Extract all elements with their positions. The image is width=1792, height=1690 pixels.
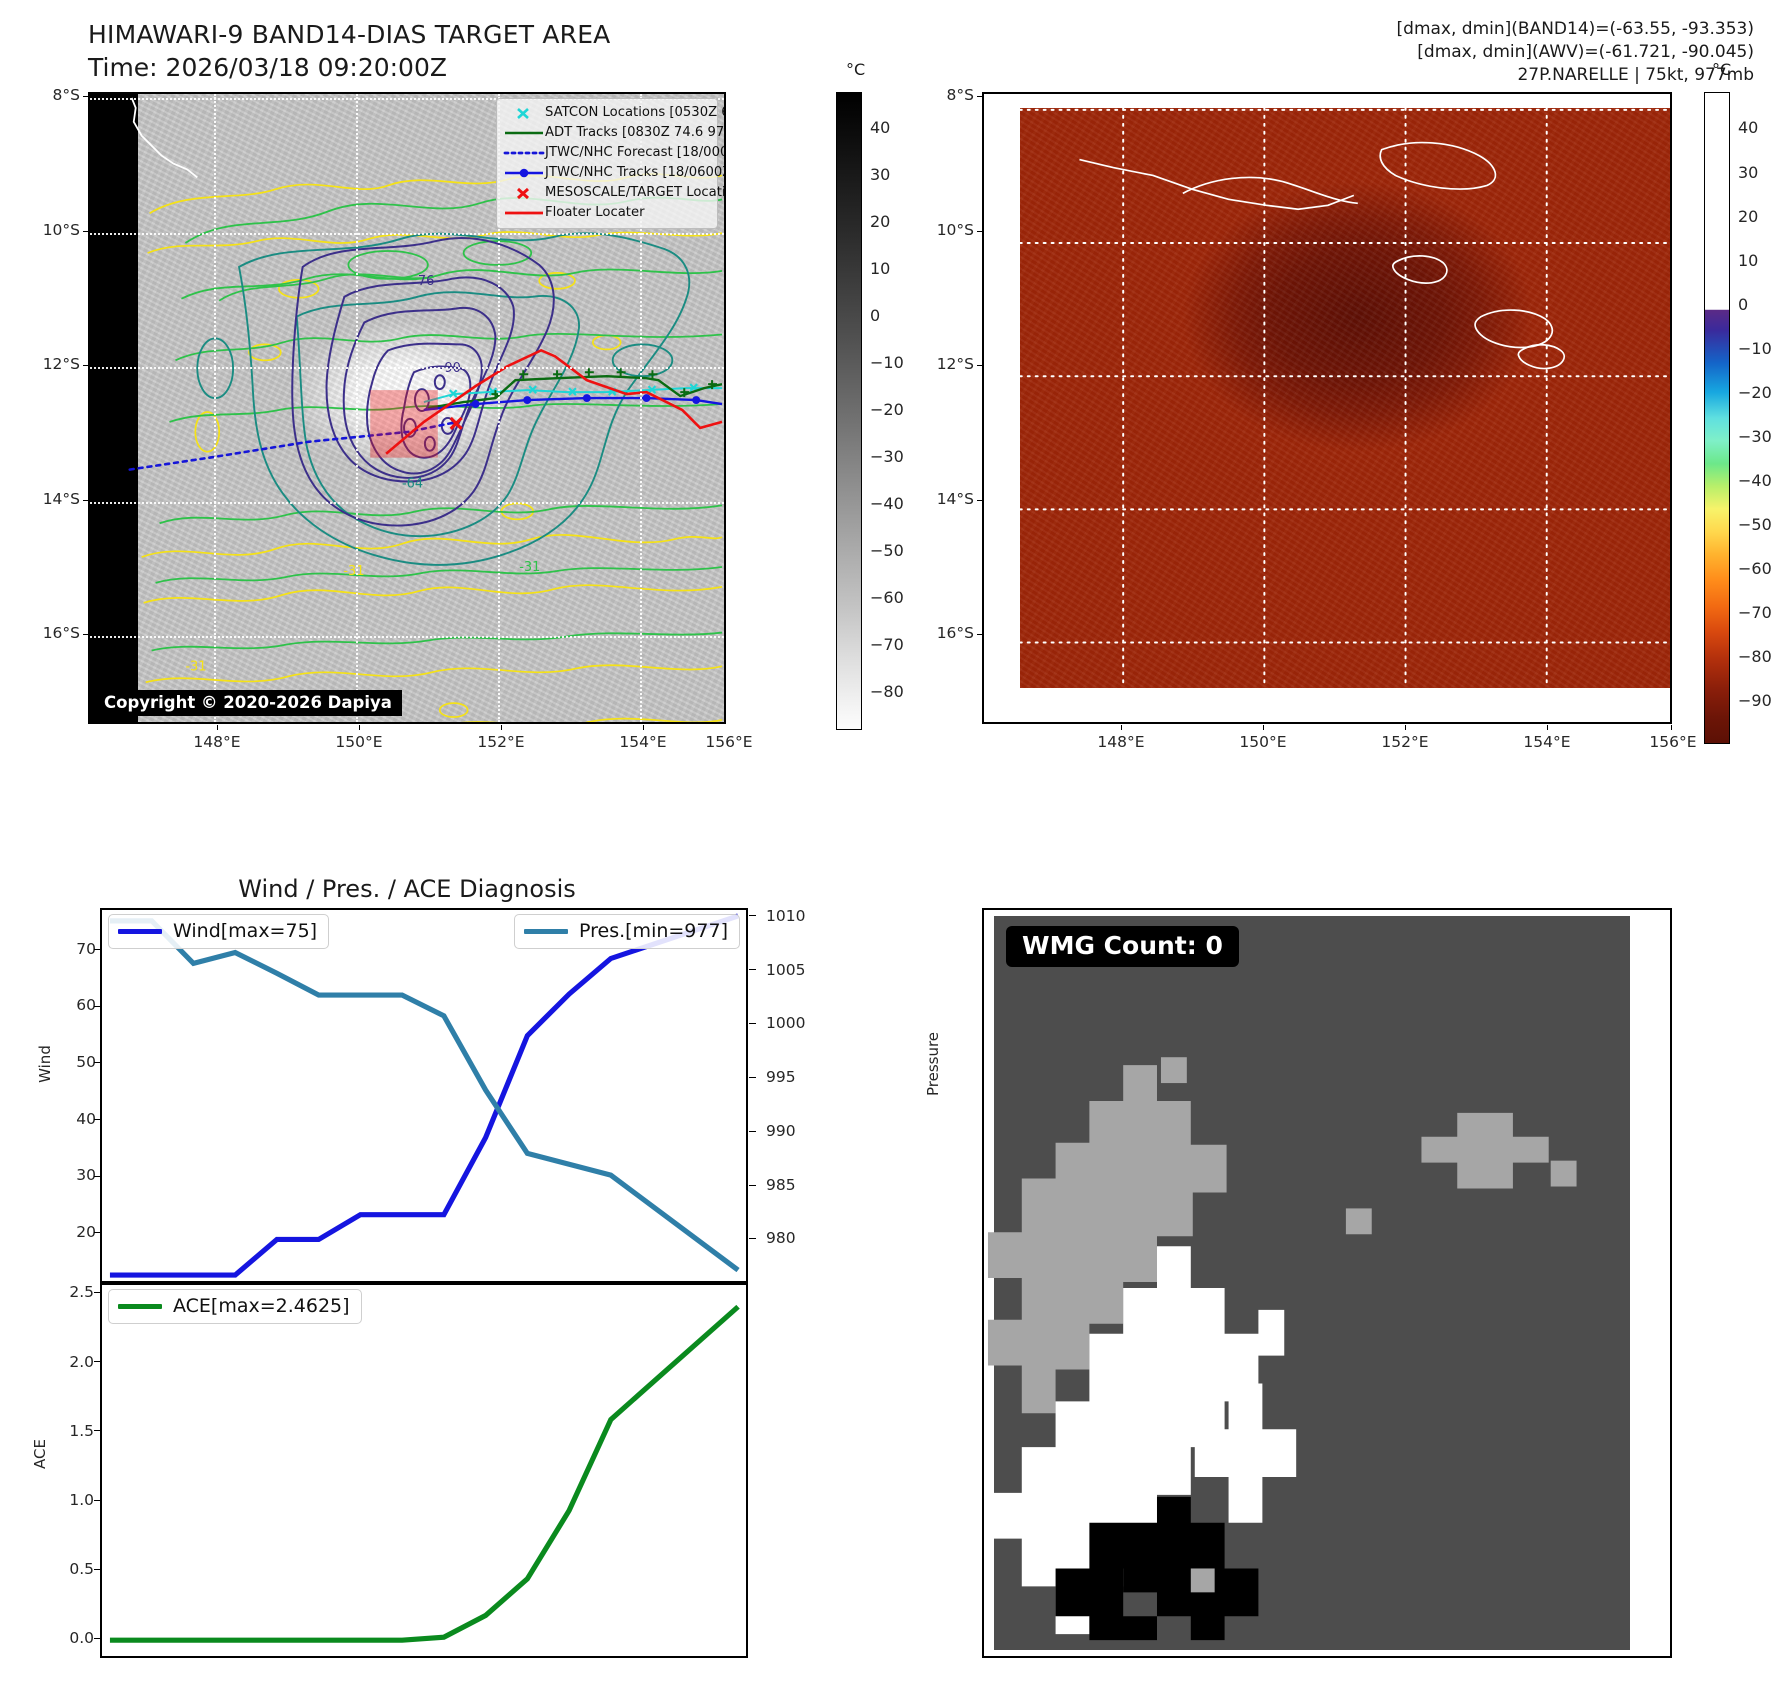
legend-item-jtwc-tracks[interactable]: JTWC/NHC Tracks [18/0600Z] (503, 163, 711, 183)
pres-tick-1010: 1010 (766, 907, 805, 925)
legend-item-adt[interactable]: ADT Tracks [0830Z 74.6 977.6] (503, 123, 711, 143)
legend-label-jtwc-forecast: JTWC/NHC Forecast [18/0000Z] (545, 143, 724, 163)
lon-label-right-154e: 154°E (1502, 733, 1592, 751)
cbar-color-tick-0: 0 (1738, 295, 1748, 314)
ace-tick-20: 2.0 (44, 1353, 94, 1371)
lat-label-right-12s: 12°S (894, 355, 974, 373)
ir-color-map-image (984, 94, 1670, 722)
wind-pressure-plot-area: Wind[max=75] Pres.[min=977] (102, 910, 746, 1281)
lon-label-right-152e: 152°E (1360, 733, 1450, 751)
title-time-text: Time: 2026/03/18 09:20:00Z (88, 53, 611, 82)
wmg-panel[interactable]: WMG Count: 0 (982, 908, 1672, 1658)
pressure-legend-label: Pres.[min=977] (579, 920, 728, 942)
legend-label-satcon: SATCON Locations [0530Z 64 984] (545, 103, 724, 123)
lon-label-152e: 152°E (456, 733, 546, 751)
lon-label-150e: 150°E (314, 733, 404, 751)
pressure-axis-title: Pressure (924, 1009, 942, 1119)
wind-legend-label: Wind[max=75] (173, 920, 317, 942)
diagnosis-chart-title: Wind / Pres. / ACE Diagnosis (88, 875, 726, 903)
dmax-band14-text: [dmax, dmin](BAND14)=(-63.55, -93.353) (1397, 18, 1754, 41)
lon-label-156e: 156°E (684, 733, 774, 751)
legend-item-satcon[interactable]: SATCON Locations [0530Z 64 984] (503, 103, 711, 123)
cbar-color-tick-m80: −80 (1738, 647, 1772, 666)
cbar-color-tick-20: 20 (1738, 207, 1758, 226)
solid-line-red-icon (503, 203, 545, 223)
line-with-dot-blue-icon (503, 163, 545, 183)
cbar-color-tick-m90: −90 (1738, 691, 1772, 710)
legend-item-jtwc-forecast[interactable]: JTWC/NHC Forecast [18/0000Z] (503, 143, 711, 163)
page-title: HIMAWARI-9 BAND14-DIAS TARGET AREA Time:… (88, 20, 611, 82)
ir-color-map-panel[interactable] (982, 92, 1672, 724)
legend-item-mesoscale[interactable]: MESOSCALE/TARGET Location (503, 183, 711, 203)
svg-text:-64: -64 (402, 476, 423, 491)
wmg-map-image: WMG Count: 0 (984, 910, 1670, 1656)
cbar-gray-tick-m60: −60 (870, 588, 904, 607)
svg-text:-31: -31 (519, 560, 540, 575)
ace-legend-swatch (118, 1304, 162, 1309)
wind-pressure-plot-panel[interactable]: Wind[max=75] Pres.[min=977] (100, 908, 748, 1283)
color-colorbar[interactable]: °C 40 30 20 10 0 −10 −20 −30 −40 −50 −60… (1704, 60, 1792, 750)
colorbar-gray-gradient (836, 92, 862, 730)
wind-tick-40: 40 (62, 1110, 96, 1128)
wind-legend[interactable]: Wind[max=75] (108, 914, 329, 949)
cbar-color-tick-m60: −60 (1738, 559, 1772, 578)
header-stats-block: [dmax, dmin](BAND14)=(-63.55, -93.353) [… (1397, 18, 1754, 87)
ace-plot-panel[interactable]: ACE[max=2.4625] (100, 1283, 748, 1658)
lat-label-10s: 10°S (0, 221, 80, 239)
legend-label-jtwc-tracks: JTWC/NHC Tracks [18/0600Z] (545, 163, 724, 183)
wind-pressure-series (102, 910, 746, 1281)
cbar-gray-tick-40: 40 (870, 118, 890, 137)
wmg-cluster-shapes (984, 910, 1670, 1656)
wind-tick-30: 30 (62, 1166, 96, 1184)
ir-grayscale-map-panel[interactable]: 76 -90 -64 -31 -31 -31 -31 (88, 92, 726, 724)
ace-legend-label: ACE[max=2.4625] (173, 1295, 350, 1317)
cbar-gray-tick-m80: −80 (870, 682, 904, 701)
pres-tick-1005: 1005 (766, 961, 805, 979)
legend-item-floater[interactable]: Floater Locater (503, 203, 711, 223)
wind-legend-swatch (118, 929, 162, 934)
legend-label-mesoscale: MESOSCALE/TARGET Location (545, 183, 724, 203)
ace-plot-area: ACE[max=2.4625] (102, 1285, 746, 1656)
pres-tick-990: 990 (766, 1122, 796, 1140)
ace-series (102, 1285, 746, 1656)
cbar-gray-tick-m20: −20 (870, 400, 904, 419)
colorbar-color-gradient (1704, 92, 1730, 744)
svg-text:76: 76 (418, 274, 434, 289)
storm-info-text: 27P.NARELLE | 75kt, 977mb (1397, 64, 1754, 87)
colorbar-gray-unit: °C (846, 60, 865, 79)
color-map-overlay-vectors (984, 94, 1670, 722)
ace-tick-10: 1.0 (44, 1491, 94, 1509)
ace-tick-25: 2.5 (44, 1283, 94, 1301)
cbar-gray-tick-0: 0 (870, 306, 880, 325)
cbar-gray-tick-m50: −50 (870, 541, 904, 560)
lon-label-right-148e: 148°E (1076, 733, 1166, 751)
copyright-notice: Copyright © 2020-2026 Dapiya (94, 690, 402, 716)
lon-label-148e: 148°E (172, 733, 262, 751)
lon-label-154e: 154°E (598, 733, 688, 751)
wind-axis-title: Wind (36, 1014, 54, 1114)
ace-tick-00: 0.0 (44, 1629, 94, 1647)
ace-legend[interactable]: ACE[max=2.4625] (108, 1289, 362, 1324)
legend-label-floater: Floater Locater (545, 203, 645, 223)
cbar-color-tick-m10: −10 (1738, 339, 1772, 358)
cbar-color-tick-m20: −20 (1738, 383, 1772, 402)
x-marker-cyan-icon (503, 103, 545, 123)
cbar-color-tick-m50: −50 (1738, 515, 1772, 534)
cbar-gray-tick-20: 20 (870, 212, 890, 231)
cbar-gray-tick-30: 30 (870, 165, 890, 184)
solid-line-green-icon (503, 123, 545, 143)
wmg-count-badge: WMG Count: 0 (1006, 926, 1239, 967)
ace-tick-05: 0.5 (44, 1560, 94, 1578)
cbar-color-tick-m70: −70 (1738, 603, 1772, 622)
x-marker-red-icon (503, 183, 545, 203)
lat-label-16s: 16°S (0, 624, 80, 642)
cbar-color-tick-m30: −30 (1738, 427, 1772, 446)
lat-label-right-14s: 14°S (894, 490, 974, 508)
lat-label-12s: 12°S (0, 355, 80, 373)
svg-text:-31: -31 (343, 564, 364, 579)
cbar-color-tick-m40: −40 (1738, 471, 1772, 490)
cbar-color-tick-10: 10 (1738, 251, 1758, 270)
ir-grayscale-map-image: 76 -90 -64 -31 -31 -31 -31 (90, 94, 724, 722)
lat-label-right-8s: 8°S (894, 86, 974, 104)
map-legend[interactable]: SATCON Locations [0530Z 64 984] ADT Trac… (496, 98, 718, 229)
colorbar-color-unit: °C (1712, 60, 1731, 79)
legend-label-adt: ADT Tracks [0830Z 74.6 977.6] (545, 123, 724, 143)
wind-tick-60: 60 (62, 996, 96, 1014)
pressure-legend-swatch (524, 929, 568, 934)
wind-tick-70: 70 (62, 940, 96, 958)
pres-tick-995: 995 (766, 1068, 796, 1086)
cbar-color-tick-30: 30 (1738, 163, 1758, 182)
lat-label-right-10s: 10°S (894, 221, 974, 239)
dmax-awv-text: [dmax, dmin](AWV)=(-61.721, -90.045) (1397, 41, 1754, 64)
pres-tick-1000: 1000 (766, 1014, 805, 1032)
lat-label-8s: 8°S (0, 86, 80, 104)
pressure-legend[interactable]: Pres.[min=977] (514, 914, 740, 949)
lon-label-right-150e: 150°E (1218, 733, 1308, 751)
cbar-gray-tick-10: 10 (870, 259, 890, 278)
dotted-line-blue-icon (503, 143, 545, 163)
title-main-text: HIMAWARI-9 BAND14-DIAS TARGET AREA (88, 20, 611, 49)
pres-tick-980: 980 (766, 1229, 796, 1247)
wind-tick-50: 50 (62, 1053, 96, 1071)
cbar-color-tick-40: 40 (1738, 118, 1758, 137)
lat-label-right-16s: 16°S (894, 624, 974, 642)
ace-axis-title: ACE (31, 1404, 49, 1504)
cbar-gray-tick-m30: −30 (870, 447, 904, 466)
lat-label-14s: 14°S (0, 490, 80, 508)
svg-text:-31: -31 (185, 659, 206, 674)
ace-tick-15: 1.5 (44, 1422, 94, 1440)
pres-tick-985: 985 (766, 1176, 796, 1194)
wind-tick-20: 20 (62, 1223, 96, 1241)
